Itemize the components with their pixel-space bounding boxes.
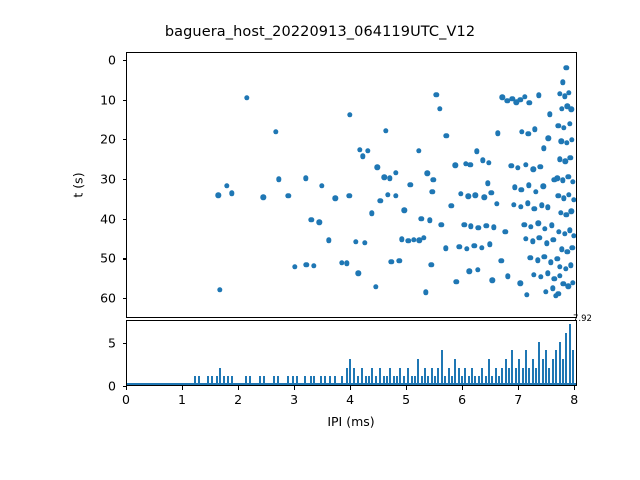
histogram-bar: [528, 368, 530, 385]
scatter-point: [362, 240, 367, 245]
scatter-point: [244, 95, 249, 100]
y-tick-mark: [123, 219, 127, 220]
y-tick-mark: [123, 100, 127, 101]
scatter-point: [385, 192, 390, 197]
scatter-point: [532, 127, 537, 132]
scatter-point: [273, 129, 278, 134]
scatter-point: [557, 157, 562, 162]
scatter-point: [556, 229, 561, 234]
scatter-point: [488, 190, 493, 195]
scatter-point: [532, 206, 537, 211]
scatter-point: [557, 273, 562, 278]
histogram-bar: [437, 368, 439, 385]
scatter-point: [505, 273, 510, 278]
scatter-point: [472, 243, 477, 248]
scatter-point: [566, 90, 571, 95]
y-tick-mark: [123, 179, 127, 180]
scatter-point: [353, 239, 358, 244]
scatter-point: [527, 100, 532, 105]
scatter-point: [333, 196, 338, 201]
scatter-point: [558, 138, 563, 143]
scatter-point: [373, 284, 378, 289]
scatter-point: [518, 281, 523, 286]
scatter-point: [518, 204, 523, 209]
scatter-point: [530, 167, 535, 172]
scatter-point: [537, 235, 542, 240]
scatter-point: [542, 254, 547, 259]
scatter-point: [276, 177, 281, 182]
histogram-bar: [417, 359, 419, 385]
scatter-point: [406, 238, 411, 243]
scatter-point: [387, 176, 392, 181]
scatter-point: [512, 184, 517, 189]
scatter-point: [539, 203, 544, 208]
scatter-point: [444, 133, 449, 138]
scatter-point: [316, 219, 321, 224]
scatter-point: [443, 246, 448, 251]
histogram-bar: [349, 359, 351, 385]
x-tick-mark: [182, 386, 183, 390]
y-tick-label: 50: [100, 251, 116, 266]
scatter-point: [402, 208, 407, 213]
scatter-point: [519, 129, 524, 134]
scatter-point: [344, 261, 349, 266]
scatter-point: [531, 272, 536, 277]
page-title: baguera_host_20220913_064119UTC_V12: [0, 24, 640, 40]
histogram-bar: [548, 368, 550, 385]
scatter-point: [519, 187, 524, 192]
scatter-point: [541, 184, 546, 189]
scatter-point: [439, 222, 444, 227]
histogram-bar: [572, 350, 574, 385]
scatter-point: [570, 179, 575, 184]
histogram-bar: [379, 368, 381, 385]
scatter-point: [347, 112, 352, 117]
scatter-point: [553, 293, 558, 298]
scatter-point: [571, 233, 576, 238]
histogram-bar: [431, 368, 433, 385]
x-tick-label: 0: [122, 392, 130, 407]
y-tick-label: 0: [108, 52, 116, 67]
histogram-bar: [542, 359, 544, 385]
x-tick-mark: [518, 386, 519, 390]
scatter-point: [515, 165, 520, 170]
histogram-bar: [471, 368, 473, 385]
scatter-point: [542, 226, 547, 231]
scatter-point: [551, 237, 556, 242]
scatter-point: [483, 223, 488, 228]
scatter-y-axis-label: t (s): [71, 172, 86, 197]
scatter-point: [474, 149, 479, 154]
scatter-point: [533, 189, 538, 194]
scatter-point: [523, 162, 528, 167]
scatter-point: [494, 201, 499, 206]
x-tick-label: 1: [178, 392, 186, 407]
histogram-bar: [346, 368, 348, 385]
x-tick-label: 3: [290, 392, 298, 407]
y-tick-mark: [123, 298, 127, 299]
scatter-point: [434, 92, 439, 97]
scatter-point: [522, 222, 527, 227]
histogram-bar: [495, 368, 497, 385]
scatter-point: [369, 211, 374, 216]
scatter-point: [565, 249, 570, 254]
scatter-point: [526, 183, 531, 188]
scatter-point: [430, 189, 435, 194]
scatter-point: [549, 223, 554, 228]
scatter-point: [545, 271, 550, 276]
scatter-point: [304, 262, 309, 267]
y-tick-mark: [123, 60, 127, 61]
scatter-point: [564, 212, 569, 217]
scatter-point: [399, 236, 404, 241]
scatter-point: [421, 235, 426, 240]
scatter-point: [418, 216, 423, 221]
scatter-point: [543, 289, 548, 294]
scatter-point: [425, 171, 430, 176]
scatter-point: [411, 237, 416, 242]
scatter-point: [224, 183, 229, 188]
x-tick-mark: [238, 386, 239, 390]
scatter-point: [309, 217, 314, 222]
histogram-bar: [454, 359, 456, 385]
scatter-point: [530, 238, 535, 243]
x-tick-mark: [462, 386, 463, 390]
scatter-point: [538, 274, 543, 279]
scatter-point: [571, 197, 576, 202]
scatter-point: [347, 193, 352, 198]
scatter-point: [490, 278, 495, 283]
scatter-point: [356, 271, 361, 276]
x-tick-mark: [406, 386, 407, 390]
y-tick-label: 40: [100, 211, 116, 226]
y-tick-mark: [123, 258, 127, 259]
histogram-bar: [361, 368, 363, 385]
scatter-point: [383, 128, 388, 133]
histogram-bar: [538, 342, 540, 385]
histogram-bar: [522, 368, 524, 385]
x-axis-label: IPI (ms): [327, 414, 374, 429]
scatter-point: [509, 163, 514, 168]
x-tick-label: 7: [514, 392, 522, 407]
scatter-point: [546, 136, 551, 141]
histogram-bar: [555, 350, 557, 385]
scatter-point: [560, 80, 565, 85]
scatter-point: [502, 229, 507, 234]
scatter-point: [260, 194, 265, 199]
scatter-point: [523, 236, 528, 241]
scatter-point: [511, 202, 516, 207]
scatter-point: [552, 177, 557, 182]
scatter-point: [556, 123, 561, 128]
scatter-point: [569, 209, 574, 214]
y-tick-mark: [123, 139, 127, 140]
scatter-point: [564, 65, 569, 70]
scatter-point: [292, 264, 297, 269]
histogram-bar: [399, 368, 401, 385]
scatter-point: [522, 94, 527, 99]
scatter-point: [326, 238, 331, 243]
scatter-point: [568, 263, 573, 268]
scatter-point: [429, 262, 434, 267]
scatter-point: [216, 192, 221, 197]
scatter-point: [550, 286, 555, 291]
scatter-point: [567, 121, 572, 126]
histogram-bar: [441, 350, 443, 385]
histogram-panel: [126, 320, 577, 386]
scatter-point: [567, 228, 572, 233]
x-tick-label: 2: [234, 392, 242, 407]
scatter-point: [479, 245, 484, 250]
scatter-point: [544, 240, 549, 245]
scatter-point: [559, 106, 564, 111]
scatter-point: [570, 280, 575, 285]
histogram-bar: [424, 368, 426, 385]
scatter-point: [449, 203, 454, 208]
scatter-point: [375, 165, 380, 170]
scatter-point: [431, 177, 436, 182]
scatter-point: [467, 269, 472, 274]
scatter-point: [389, 259, 394, 264]
scatter-point: [557, 264, 562, 269]
x-tick-label: 6: [458, 392, 466, 407]
scatter-point: [491, 225, 496, 230]
scatter-point: [427, 217, 432, 222]
x-tick-label: 8: [570, 392, 578, 407]
scatter-point: [465, 194, 470, 199]
scatter-point: [566, 192, 571, 197]
scatter-point: [548, 260, 553, 265]
scatter-point: [563, 266, 568, 271]
scatter-point: [408, 182, 413, 187]
scatter-point: [536, 221, 541, 226]
histogram-bar: [448, 368, 450, 385]
y-tick-label: 20: [100, 132, 116, 147]
figure-canvas: baguera_host_20220913_064119UTC_V12 t (s…: [0, 0, 640, 480]
histogram-bar: [511, 350, 513, 385]
scatter-point: [528, 255, 533, 260]
scatter-point: [360, 154, 365, 159]
scatter-point: [378, 198, 383, 203]
histogram-bar: [559, 342, 561, 385]
scatter-point: [561, 196, 566, 201]
scatter-point: [538, 164, 543, 169]
scatter-point: [541, 146, 546, 151]
histogram-baseline: [127, 383, 576, 385]
scatter-point: [437, 106, 442, 111]
histogram-bar: [508, 368, 510, 385]
scatter-point: [365, 148, 370, 153]
scatter-point: [567, 155, 572, 160]
scatter-point: [560, 178, 565, 183]
peak-value-annotation: 7.92: [573, 314, 592, 324]
hist-y-tick-label: 0: [108, 379, 116, 394]
histogram-bar: [569, 324, 571, 385]
x-tick-label: 5: [402, 392, 410, 407]
scatter-plot-panel: [126, 52, 577, 318]
scatter-point: [468, 162, 473, 167]
scatter-point: [473, 192, 478, 197]
y-tick-label: 60: [100, 291, 116, 306]
x-tick-mark: [294, 386, 295, 390]
scatter-point: [562, 231, 567, 236]
histogram-bar: [535, 368, 537, 385]
histogram-bar: [545, 350, 547, 385]
scatter-point: [487, 242, 492, 247]
scatter-point: [482, 194, 487, 199]
scatter-point: [525, 201, 530, 206]
scatter-point: [393, 193, 398, 198]
scatter-point: [547, 111, 552, 116]
histogram-bar: [481, 368, 483, 385]
scatter-point: [485, 181, 490, 186]
x-tick-mark: [126, 386, 127, 390]
scatter-point: [416, 148, 421, 153]
scatter-point: [535, 258, 540, 263]
histogram-bar: [562, 359, 564, 385]
scatter-point: [464, 246, 469, 251]
histogram-bar: [371, 368, 373, 385]
histogram-bar: [525, 350, 527, 385]
histogram-bar: [219, 368, 221, 385]
histogram-bar: [552, 359, 554, 385]
histogram-bar: [505, 359, 507, 385]
scatter-point: [536, 93, 541, 98]
scatter-point: [229, 190, 234, 195]
scatter-point: [569, 137, 574, 142]
scatter-point: [357, 147, 362, 152]
y-tick-label: 10: [100, 92, 116, 107]
scatter-point: [480, 157, 485, 162]
scatter-point: [524, 292, 529, 297]
scatter-point: [397, 258, 402, 263]
scatter-point: [559, 246, 564, 251]
scatter-point: [393, 170, 398, 175]
scatter-point: [495, 130, 500, 135]
scatter-point: [475, 267, 480, 272]
scatter-point: [311, 263, 316, 268]
histogram-bar: [458, 368, 460, 385]
scatter-point: [453, 163, 458, 168]
scatter-point: [217, 287, 222, 292]
scatter-point: [476, 225, 481, 230]
scatter-point: [462, 222, 467, 227]
histogram-bar: [565, 333, 567, 385]
hist-y-tick-mark: [123, 343, 127, 344]
x-tick-mark: [574, 386, 575, 390]
histogram-bar: [389, 368, 391, 385]
histogram-bar: [515, 368, 517, 385]
scatter-point: [286, 193, 291, 198]
histogram-bar: [488, 359, 490, 385]
scatter-point: [561, 125, 566, 130]
y-tick-label: 30: [100, 172, 116, 187]
scatter-point: [562, 159, 567, 164]
scatter-point: [458, 191, 463, 196]
scatter-point: [566, 174, 571, 179]
scatter-point: [528, 224, 533, 229]
scatter-point: [319, 183, 324, 188]
scatter-point: [423, 290, 428, 295]
hist-y-tick-label: 5: [108, 335, 116, 350]
scatter-point: [486, 160, 491, 165]
scatter-point: [303, 176, 308, 181]
histogram-bar: [464, 368, 466, 385]
scatter-point: [525, 131, 530, 136]
histogram-bar: [518, 359, 520, 385]
scatter-point: [468, 224, 473, 229]
scatter-point: [555, 256, 560, 261]
histogram-bar: [501, 368, 503, 385]
scatter-point: [457, 244, 462, 249]
scatter-point: [558, 210, 563, 215]
scatter-point: [556, 193, 561, 198]
histogram-bar: [407, 368, 409, 385]
histogram-bar: [353, 368, 355, 385]
x-tick-mark: [350, 386, 351, 390]
histogram-bar: [532, 359, 534, 385]
scatter-point: [381, 175, 386, 180]
x-tick-label: 4: [346, 392, 354, 407]
scatter-point: [454, 279, 459, 284]
scatter-point: [569, 107, 574, 112]
scatter-point: [545, 205, 550, 210]
scatter-point: [570, 245, 575, 250]
scatter-point: [499, 258, 504, 263]
